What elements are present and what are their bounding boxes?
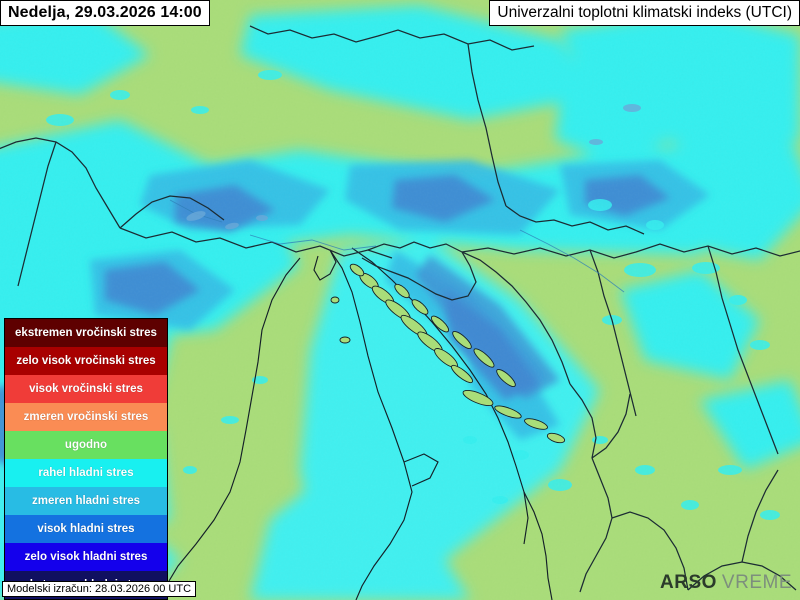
legend-row: zmeren vročinski stres <box>5 403 167 431</box>
product-title: Univerzalni toplotni klimatski indeks (U… <box>489 0 800 26</box>
legend-row: ekstremen vročinski stres <box>5 319 167 347</box>
legend-row: visok hladni stres <box>5 515 167 543</box>
legend-row: zmeren hladni stres <box>5 487 167 515</box>
date-time-title: Nedelja, 29.03.2026 14:00 <box>0 0 210 26</box>
legend-row: visok vročinski stres <box>5 375 167 403</box>
legend-row: ugodno <box>5 431 167 459</box>
model-run-attribution: Modelski izračun: 28.03.2026 00 UTC <box>2 581 196 597</box>
legend-row: zelo visok vročinski stres <box>5 347 167 375</box>
legend-row: zelo visok hladni stres <box>5 543 167 571</box>
utci-weather-map-page: Nedelja, 29.03.2026 14:00 Univerzalni to… <box>0 0 800 600</box>
legend-row: rahel hladni stres <box>5 459 167 487</box>
utci-legend: ekstremen vročinski streszelo visok vroč… <box>4 318 168 600</box>
